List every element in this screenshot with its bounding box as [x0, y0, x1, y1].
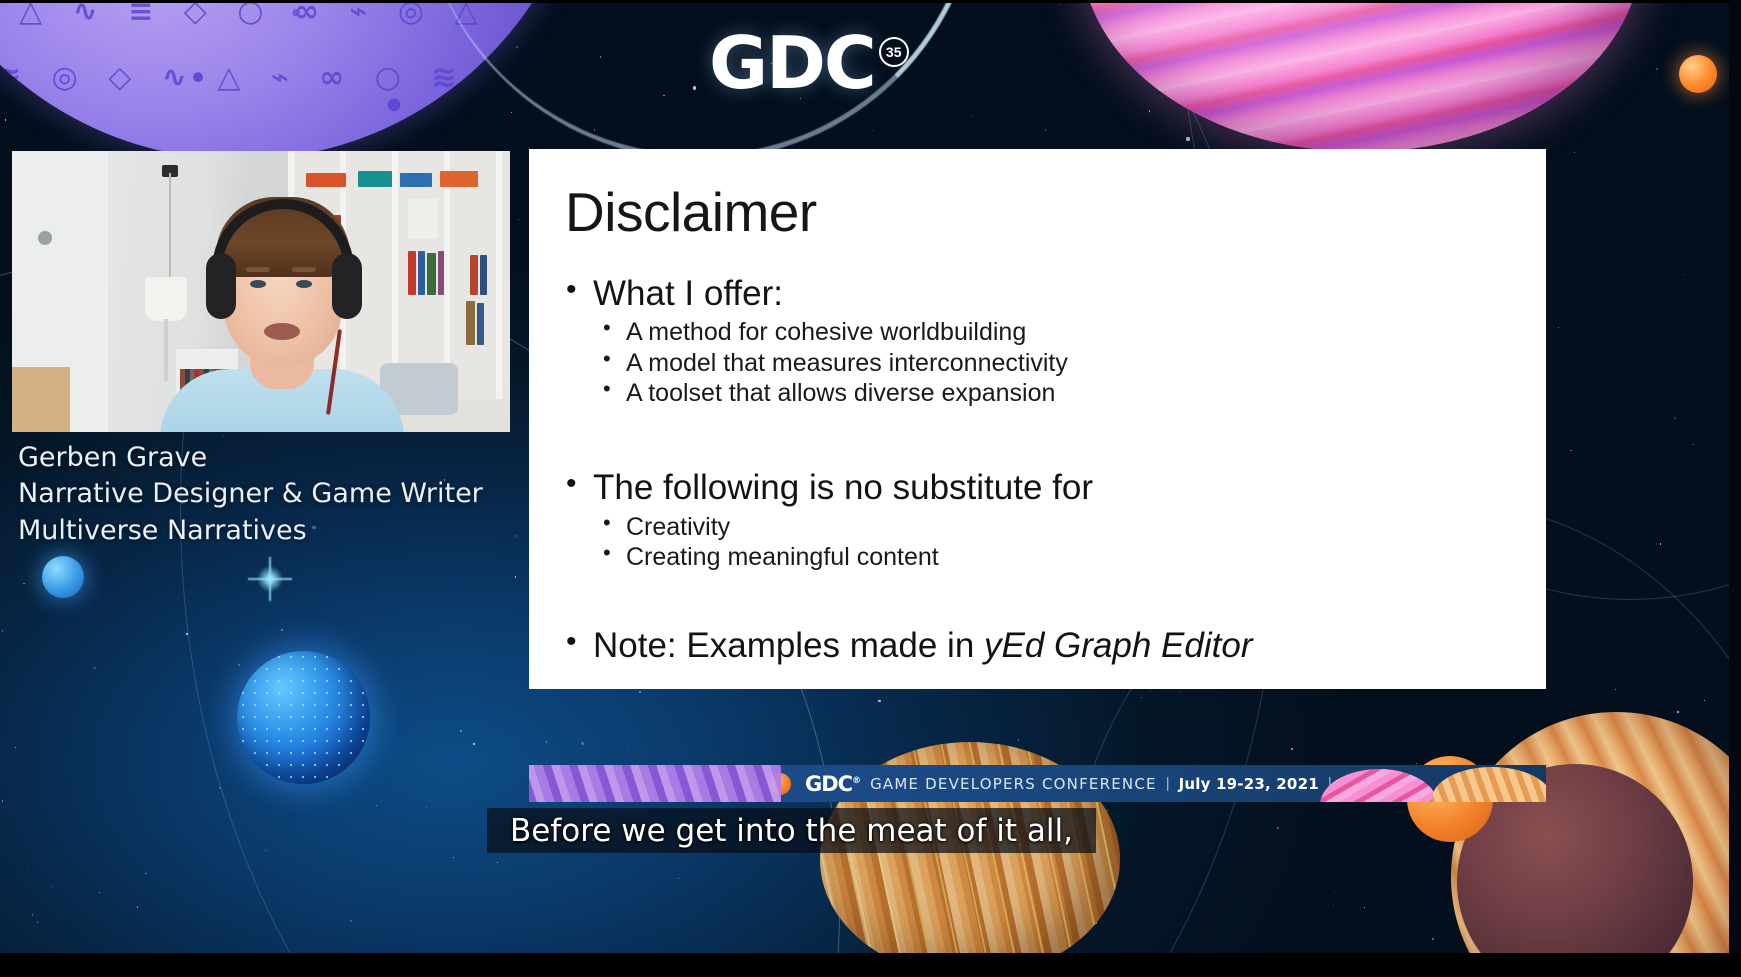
small-blue-planet-icon — [42, 556, 84, 598]
footer-orange-planet-icon — [1432, 767, 1546, 802]
footer-pink-planet-icon — [1320, 769, 1438, 802]
bullet-note-label: Note: Examples made in yEd Graph Editor — [593, 626, 1252, 665]
sub-bullet: Creativity — [593, 512, 1526, 542]
letterbox-top — [0, 0, 1741, 3]
orange-moon-icon — [1679, 55, 1717, 93]
slide-bullet-list: What I offer: A method for cohesive worl… — [557, 276, 1526, 664]
footer-dates: July 19-23, 2021 — [1179, 775, 1319, 793]
bullet-what-i-offer: What I offer: A method for cohesive worl… — [557, 276, 1526, 408]
speaker-role: Narrative Designer & Game Writer — [18, 476, 538, 512]
sub-bullet: Creating meaningful content — [593, 542, 1526, 572]
webcam-corkboard — [12, 367, 70, 432]
footer-purple-planet-icon — [529, 765, 781, 802]
bullet-no-substitute-label: The following is no substitute for — [593, 468, 1093, 507]
bullet-spacer — [557, 410, 1526, 470]
footer-gdc-text: GDC — [805, 772, 852, 796]
speaker-webcam-video[interactable] — [12, 151, 510, 432]
subtitle-caption: Before we get into the meat of it all, — [487, 808, 1096, 853]
slide-body: What I offer: A method for cohesive worl… — [557, 276, 1526, 666]
speaker-person — [172, 191, 392, 432]
sub-bullet: A method for cohesive worldbuilding — [593, 317, 1526, 347]
video-frame: ◇ ∿ ○ △ ⌁ ◎ ≋ ∞ ◇ ∿ ○ ∿ ◇ ◎ ≡ ∞ △ ⌁ ○ ∿ … — [0, 0, 1741, 977]
speaker-eye-left — [250, 280, 266, 288]
sublist-what-i-offer: A method for cohesive worldbuilding A mo… — [593, 317, 1526, 408]
speaker-company: Multiverse Narratives — [18, 513, 538, 549]
gdc-logo: GDC 35 — [709, 33, 909, 95]
subtitle-text: Before we get into the meat of it all, — [510, 813, 1073, 849]
letterbox-right — [1729, 0, 1741, 977]
footer-gdc-logo: GDC® — [805, 772, 860, 796]
speaker-identity: Gerben Grave Narrative Designer & Game W… — [18, 440, 538, 549]
headphone-cup-right-icon — [332, 253, 362, 319]
slide-footer-bar: GDC® GAME DEVELOPERS CONFERENCE | July 1… — [529, 765, 1546, 802]
blue-dotted-planet-icon — [237, 651, 370, 784]
bullet-spacer — [557, 574, 1526, 628]
footer-separator-1: | — [1166, 775, 1170, 792]
speaker-mouth — [264, 323, 300, 340]
bullet-no-substitute: The following is no substitute for Creat… — [557, 470, 1526, 572]
webcam-lamp-stem — [164, 319, 168, 381]
speaker-eye-right — [296, 280, 312, 288]
note-prefix: Note: Examples made in — [593, 626, 984, 665]
webcam-doorknob — [38, 231, 52, 245]
footer-registered-mark: ® — [852, 776, 860, 786]
bullet-what-i-offer-label: What I offer: — [593, 274, 783, 313]
gdc-anniversary-badge: 35 — [879, 37, 909, 67]
footer-conference-name: GAME DEVELOPERS CONFERENCE — [870, 775, 1157, 793]
slide-title: Disclaimer — [565, 180, 817, 244]
headphone-cup-left-icon — [206, 253, 236, 319]
speaker-name: Gerben Grave — [18, 440, 538, 476]
gdc-wordmark: GDC — [709, 33, 875, 95]
letterbox-bottom — [0, 953, 1741, 977]
sub-bullet: A model that measures interconnectivity — [593, 348, 1526, 378]
webcam-hanging-cord — [169, 173, 171, 293]
bullet-note: Note: Examples made in yEd Graph Editor — [557, 628, 1526, 664]
sparkle-icon — [248, 557, 292, 601]
sub-bullet: A toolset that allows diverse expansion — [593, 378, 1526, 408]
note-tool-name: yEd Graph Editor — [984, 626, 1252, 665]
sublist-no-substitute: Creativity Creating meaningful content — [593, 512, 1526, 573]
presentation-slide: Disclaimer What I offer: A method for co… — [529, 149, 1546, 689]
